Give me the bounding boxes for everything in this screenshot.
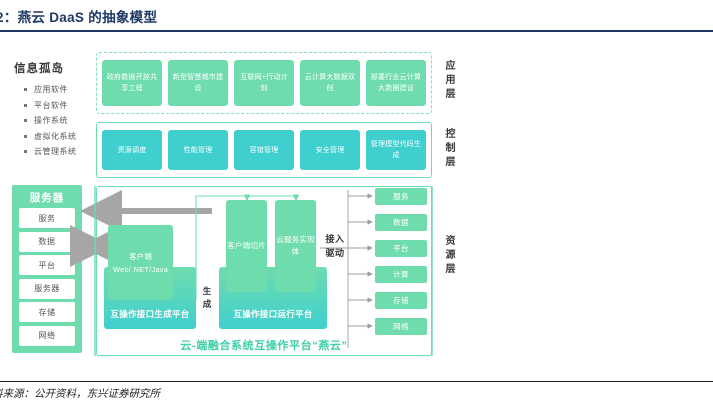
generate-label: 生 成 xyxy=(199,285,215,311)
list-item: 平台软件 xyxy=(24,98,95,114)
control-box: 容错管理 xyxy=(234,130,294,170)
server-stack-title: 服务器 xyxy=(30,190,65,205)
application-layer-label: 应 用 层 xyxy=(438,60,464,102)
cloud-service-entity-box: 云服务实现体 xyxy=(275,200,316,292)
list-item: 应用软件 xyxy=(24,82,95,98)
app-box: 部委行业云计算大数据建设 xyxy=(366,60,426,106)
access-label-line: 接入 xyxy=(321,232,349,246)
figure-page: 2：燕云 DaaS 的抽象模型 信息孤岛 应用软件 平台软件 操作系统 虚拟化系… xyxy=(0,0,713,409)
client-box: 客户端Web/.NET/Java xyxy=(108,225,173,300)
layer-label-char: 应 xyxy=(438,60,464,74)
server-cell: 存储 xyxy=(19,302,75,322)
control-layer-label: 控 制 层 xyxy=(438,128,464,170)
layer-label-char: 层 xyxy=(438,156,464,170)
layer-label-char: 源 xyxy=(438,249,464,263)
info-island-list: 应用软件 平台软件 操作系统 虚拟化系统 云管理系统 xyxy=(10,82,95,160)
resource-layer-label: 资 源 层 xyxy=(438,235,464,277)
layer-label-char: 用 xyxy=(438,74,464,88)
resource-cell: 数据 xyxy=(375,214,427,231)
access-label-line: 驱动 xyxy=(321,246,349,260)
layer-label-char: 资 xyxy=(438,235,464,249)
layer-label-char: 控 xyxy=(438,128,464,142)
control-box: 安全管理 xyxy=(300,130,360,170)
page-title: 2：燕云 DaaS 的抽象模型 xyxy=(0,6,157,26)
resource-cell: 存储 xyxy=(375,292,427,309)
platform-caption: 云-端融合系统互操作平台“燕云” xyxy=(96,337,432,353)
server-cell: 平台 xyxy=(19,255,75,275)
app-box: 政府数据开放共享工程 xyxy=(102,60,162,106)
server-stack: 服务器 服务 数据 平台 服务器 存储 网络 xyxy=(12,185,82,353)
info-island-group: 信息孤岛 应用软件 平台软件 操作系统 虚拟化系统 云管理系统 xyxy=(10,60,95,160)
generate-label-char: 生 xyxy=(199,285,215,298)
server-cell: 服务 xyxy=(19,208,75,228)
control-box: 性能管理 xyxy=(168,130,228,170)
server-cell: 网络 xyxy=(19,326,75,346)
app-box: 互联网+行动计划 xyxy=(234,60,294,106)
control-box: 资源调度 xyxy=(102,130,162,170)
resource-cell: 计算 xyxy=(375,266,427,283)
title-divider xyxy=(0,30,713,32)
access-drive-label: 接入 驱动 xyxy=(321,232,349,260)
list-item: 操作系统 xyxy=(24,113,95,129)
resource-cell: 网络 xyxy=(375,318,427,335)
resource-cell: 服务 xyxy=(375,188,427,205)
client-slice-box: 客户端切片 xyxy=(226,200,267,292)
application-layer-boxes: 政府数据开放共享工程 新型智慧城市建设 互联网+行动计划 云计算大数据双创 部委… xyxy=(102,57,426,109)
layer-label-char: 层 xyxy=(438,88,464,102)
generate-label-char: 成 xyxy=(199,298,215,311)
server-cell: 数据 xyxy=(19,232,75,252)
resource-cell: 平台 xyxy=(375,240,427,257)
list-item: 云管理系统 xyxy=(24,144,95,160)
server-cell: 服务器 xyxy=(19,279,75,299)
footer-divider xyxy=(0,381,713,382)
resource-layer-cells: 服务 数据 平台 计算 存储 网络 xyxy=(375,188,427,344)
app-box: 新型智慧城市建设 xyxy=(168,60,228,106)
source-note: 料来源：公开资料，东兴证券研究所 xyxy=(0,386,160,401)
info-island-title: 信息孤岛 xyxy=(14,60,95,76)
app-box: 云计算大数据双创 xyxy=(300,60,360,106)
layer-label-char: 层 xyxy=(438,263,464,277)
layer-label-char: 制 xyxy=(438,142,464,156)
control-box: 管理模型代码生成 xyxy=(366,130,426,170)
control-layer-boxes: 资源调度 性能管理 容错管理 安全管理 管理模型代码生成 xyxy=(102,128,426,172)
list-item: 虚拟化系统 xyxy=(24,129,95,145)
